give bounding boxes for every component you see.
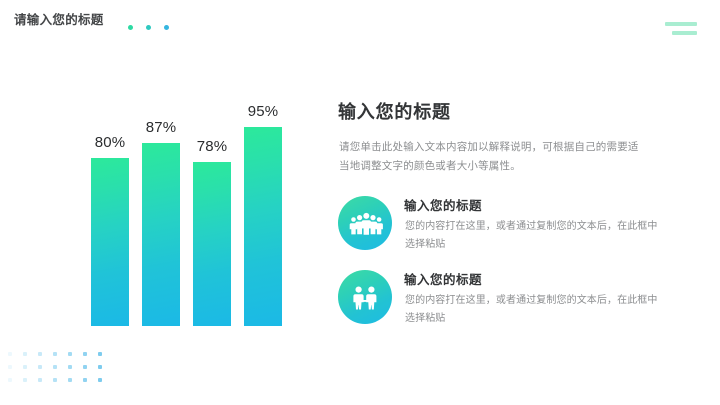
bar-chart: 80% 87% 78% 95% <box>0 0 330 405</box>
dot-grid-dot <box>23 378 27 382</box>
dot-grid-dot <box>68 365 72 369</box>
dot-grid-dot <box>98 365 102 369</box>
two-people-icon <box>338 270 392 324</box>
feature-item-1[interactable]: 输入您的标题 您的内容打在这里，或者通过复制您的文本后，在此框中选择粘贴 <box>338 196 678 256</box>
feature-item-2[interactable]: 输入您的标题 您的内容打在这里，或者通过复制您的文本后，在此框中选择粘贴 <box>338 270 678 330</box>
feature-title: 输入您的标题 <box>404 197 482 215</box>
chart-bar[interactable] <box>193 162 231 326</box>
dot-grid-dot <box>53 378 57 382</box>
feature-title: 输入您的标题 <box>404 271 482 289</box>
feature-text: 您的内容打在这里，或者通过复制您的文本后，在此框中选择粘贴 <box>405 292 667 328</box>
chart-bar-label: 78% <box>182 138 242 155</box>
slide-canvas: 请输入您的标题 80% 87% 78% 95% 输入您的标题 请您单击此处输入文… <box>0 0 720 405</box>
page-title: 输入您的标题 <box>338 100 451 124</box>
people-group-icon <box>338 196 392 250</box>
dot-grid-dot <box>83 352 87 356</box>
chart-bar[interactable] <box>142 143 180 326</box>
dot-grid-dot <box>68 378 72 382</box>
chart-bar-label: 80% <box>80 134 140 151</box>
chart-bar-label: 87% <box>131 119 191 136</box>
dot-grid-dot <box>98 378 102 382</box>
dot-grid-dot <box>83 365 87 369</box>
dot-grid-dot <box>98 352 102 356</box>
dot-grid-dot <box>23 352 27 356</box>
dot-grid-dot <box>8 352 12 356</box>
dot-grid-dot <box>38 378 42 382</box>
chart-bar[interactable] <box>244 127 282 327</box>
dot-grid-dot <box>53 365 57 369</box>
dot-grid-decoration <box>8 352 118 388</box>
chart-bar-label: 95% <box>233 103 293 120</box>
dot-grid-dot <box>8 365 12 369</box>
dot-grid-dot <box>38 352 42 356</box>
dot-grid-dot <box>8 378 12 382</box>
dot-grid-dot <box>53 352 57 356</box>
dot-grid-dot <box>68 352 72 356</box>
dot-grid-dot <box>23 365 27 369</box>
content-panel: 输入您的标题 请您单击此处输入文本内容加以解释说明，可根据自己的需要适当地调整文… <box>338 0 678 405</box>
feature-text: 您的内容打在这里，或者通过复制您的文本后，在此框中选择粘贴 <box>405 218 667 254</box>
dot-grid-dot <box>83 378 87 382</box>
chart-bar[interactable] <box>91 158 129 326</box>
page-description: 请您单击此处输入文本内容加以解释说明，可根据自己的需要适当地调整文字的颜色或者大… <box>339 138 647 176</box>
dot-grid-dot <box>38 365 42 369</box>
